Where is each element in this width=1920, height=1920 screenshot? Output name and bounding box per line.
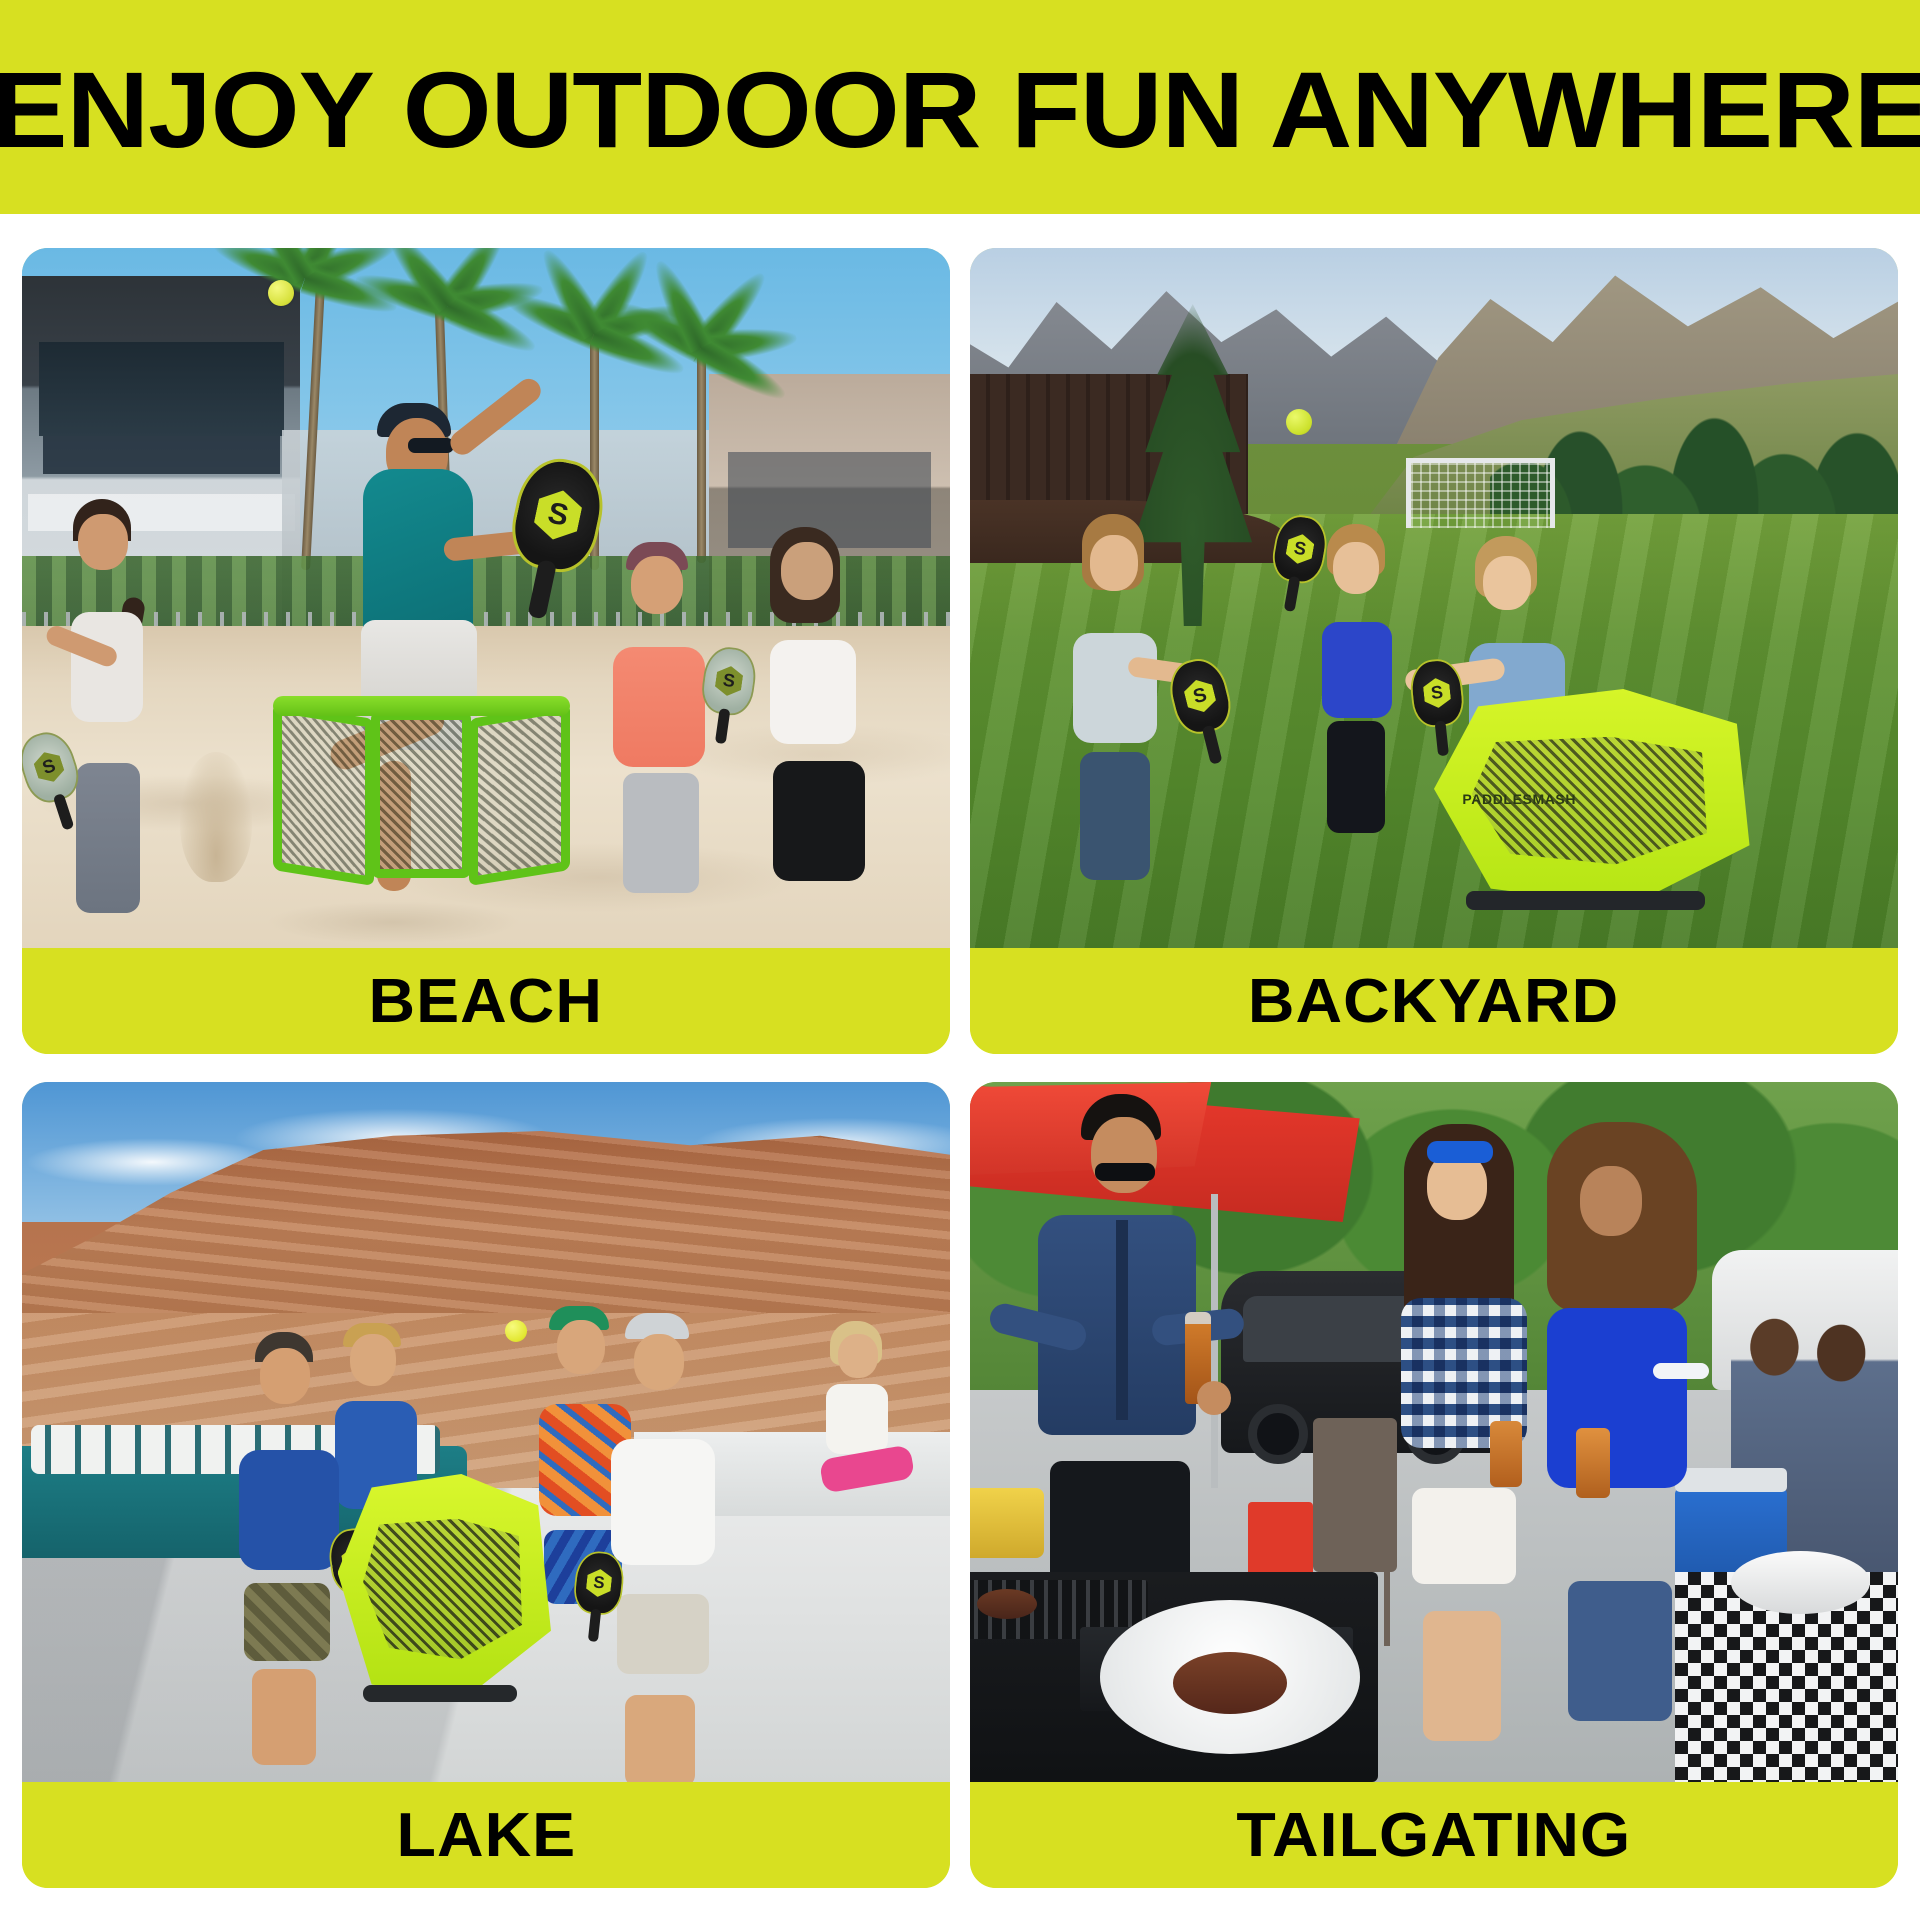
caption-bar-lake: LAKE: [22, 1782, 950, 1888]
caption-label: BACKYARD: [1248, 966, 1619, 1037]
caption-label: TAILGATING: [1237, 1800, 1632, 1871]
paper-plate-stack: [1731, 1551, 1870, 1614]
card-lake[interactable]: S S: [22, 1082, 950, 1888]
player-woman-right: S: [746, 542, 894, 920]
photo-backyard: S S S: [970, 248, 1898, 948]
caption-bar-beach: BEACH: [22, 948, 950, 1054]
player-man-right: [597, 556, 727, 906]
caption-label: LAKE: [396, 1800, 576, 1871]
product-net-set: PADDLESMASH: [1434, 689, 1750, 906]
pickleball: [268, 280, 294, 306]
product-net-set: [273, 696, 570, 878]
palm-tree: [653, 332, 749, 563]
card-backyard[interactable]: S S S: [970, 248, 1898, 1054]
player-man-white-shirt: S: [597, 1334, 736, 1754]
pickleball: [1286, 409, 1312, 435]
soccer-goal: [1406, 458, 1554, 528]
product-net-set: [338, 1474, 551, 1698]
player-mother: S: [1054, 535, 1175, 885]
photo-tailgating: [970, 1082, 1898, 1782]
card-tailgating[interactable]: TAILGATING: [970, 1082, 1898, 1888]
brand-mark: PADDLESMASH: [1462, 791, 1576, 807]
plate-with-burger: [1100, 1600, 1360, 1754]
header-banner: ENJOY OUTDOOR FUN ANYWHERE: [0, 0, 1920, 214]
caption-bar-tailgating: TAILGATING: [970, 1782, 1898, 1888]
card-beach[interactable]: S S: [22, 248, 950, 1054]
player-woman-left: S: [50, 514, 180, 892]
person-woman-blue-jersey: [1527, 1166, 1731, 1712]
infographic-page: ENJOY OUTDOOR FUN ANYWHERE: [0, 0, 1920, 1920]
corn-on-grill: [970, 1488, 1044, 1558]
caption-label: BEACH: [369, 966, 603, 1037]
page-title: ENJOY OUTDOOR FUN ANYWHERE: [0, 50, 1920, 164]
person-sunbathing: [802, 1334, 923, 1544]
photo-beach: S S: [22, 248, 950, 948]
photo-lake: S S: [22, 1082, 950, 1782]
feature-grid: S S: [22, 248, 1898, 1888]
player-child-blue: S: [1304, 542, 1406, 850]
caption-bar-backyard: BACKYARD: [970, 948, 1898, 1054]
sand-dust-puff: [180, 752, 252, 882]
